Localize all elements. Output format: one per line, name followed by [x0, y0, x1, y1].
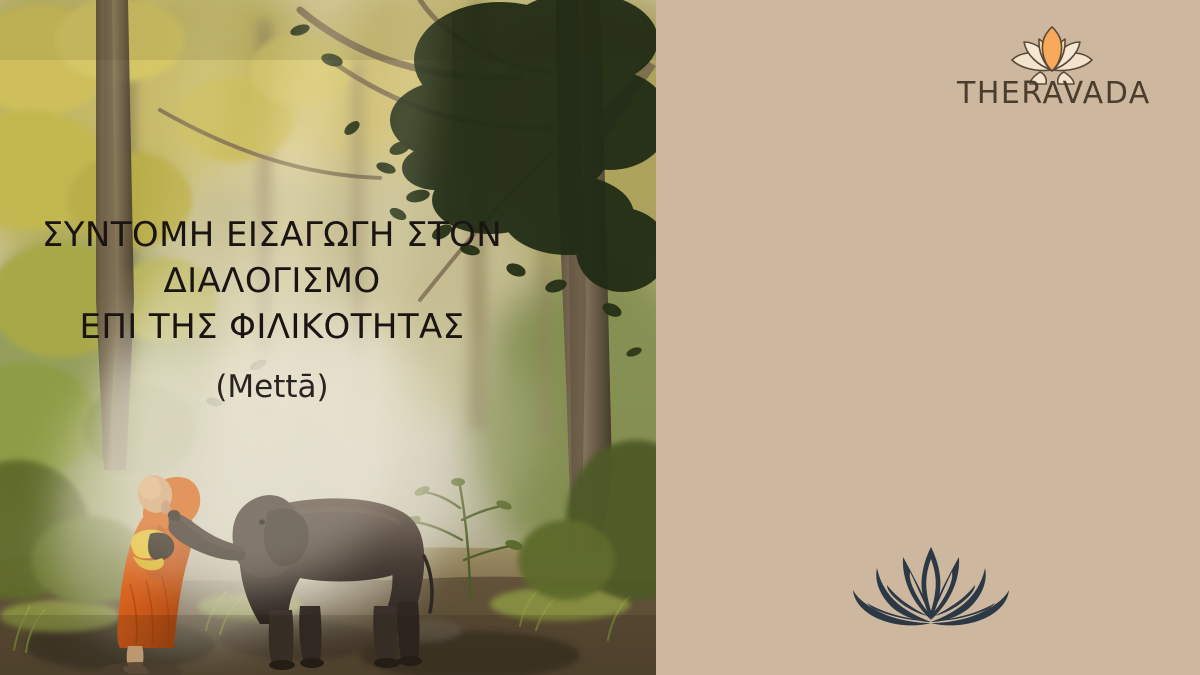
footer-lotus-icon — [846, 533, 1016, 637]
brand-logo[interactable]: THERAVADA — [957, 24, 1147, 116]
brand-name: THERAVADA — [957, 79, 1147, 109]
title-line-1: ΣΥΝΤΟΜΗ ΕΙΣΑΓΩΓΗ ΣΤΟΝ — [0, 212, 544, 258]
title-line-2: ΔΙΑΛΟΓΙΣΜΟ — [0, 258, 544, 304]
title-line-3: ΕΠΙ ΤΗΣ ΦΙΛΙΚΟΤΗΤΑΣ — [0, 304, 544, 350]
title-subtitle: (Mettā) — [0, 368, 544, 406]
slide-root: THERAVADA ΣΥΝΤΟΜΗ ΕΙΣΑΓΩΓΗ ΣΤΟΝ ΔΙΑΛΟΓΙΣ… — [0, 0, 1200, 675]
page-title: ΣΥΝΤΟΜΗ ΕΙΣΑΓΩΓΗ ΣΤΟΝ ΔΙΑΛΟΓΙΣΜΟ ΕΠΙ ΤΗΣ… — [0, 212, 544, 406]
